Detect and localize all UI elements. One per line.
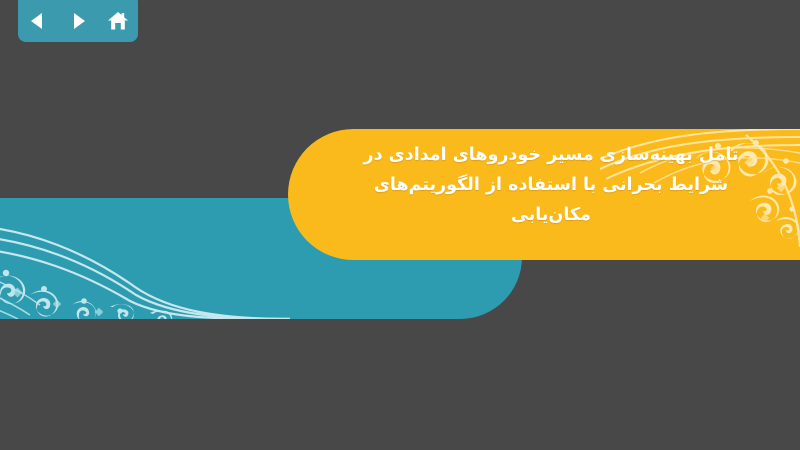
home-icon — [107, 10, 129, 32]
title-line-1: تامل بهینه‌سازی مسیر خودروهای امدادی در — [328, 140, 774, 170]
triangle-right-icon — [68, 11, 88, 31]
home-button[interactable] — [104, 7, 132, 35]
arabesque-corner-ornament — [0, 207, 290, 319]
previous-slide-button[interactable] — [24, 7, 52, 35]
presentation-slide: تامل بهینه‌سازی مسیر خودروهای امدادی در … — [0, 0, 800, 450]
title-line-2: شرایط بحرانی با استفاده از الگوریتم‌های — [328, 170, 774, 200]
slide-navigation-bar — [18, 0, 138, 42]
title-line-3: مکان‌یابی — [328, 200, 774, 230]
title-panel: تامل بهینه‌سازی مسیر خودروهای امدادی در … — [288, 129, 800, 260]
triangle-left-icon — [28, 11, 48, 31]
slide-title: تامل بهینه‌سازی مسیر خودروهای امدادی در … — [288, 140, 800, 230]
next-slide-button[interactable] — [64, 7, 92, 35]
